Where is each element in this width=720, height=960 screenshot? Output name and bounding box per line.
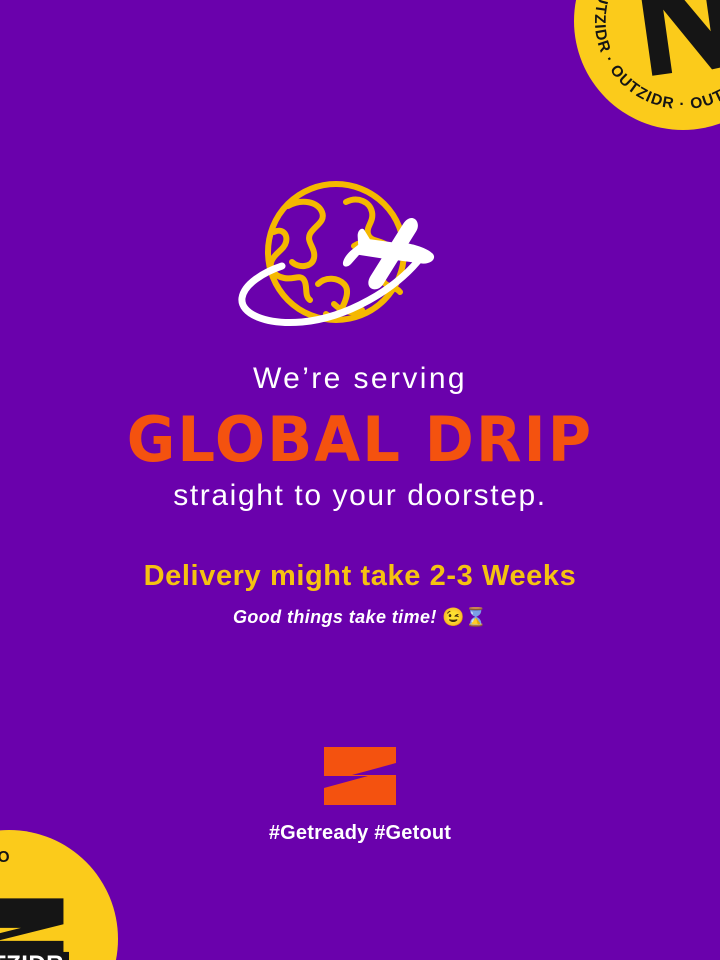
brand-z-logo — [318, 745, 402, 807]
reassurance-text: Good things take time! — [233, 607, 437, 627]
reassurance-line: Good things take time! 😉⌛ — [0, 607, 720, 628]
delivery-notice: Delivery might take 2-3 Weeks — [0, 560, 720, 593]
badge-wordmark-bottom-left: OUTZIDR — [0, 879, 69, 960]
page-title: GLOBAL DRIP — [0, 408, 720, 471]
subtitle-text: straight to your doorstep. — [0, 477, 720, 515]
footer-block: #Getready #Getout — [0, 745, 720, 845]
badge-letter-top-right — [623, 0, 720, 81]
badge-bottom-left: OUTZIDR · OUTZIDR · OUTZIDR · OUTZIDR · … — [0, 830, 118, 960]
badge-wordmark-text: OUTZIDR — [0, 951, 64, 960]
copy-block: We’re serving GLOBAL DRIP straight to yo… — [0, 360, 720, 628]
eyebrow-text: We’re serving — [0, 360, 720, 398]
winking-hourglass-emoji: 😉⌛ — [442, 607, 487, 627]
poster-canvas: OUTZIDR · OUTZIDR · OUTZIDR · OUTZIDR · … — [0, 0, 720, 960]
hero-artwork — [226, 172, 494, 340]
badge-top-right: OUTZIDR · OUTZIDR · OUTZIDR · OUTZIDR · — [574, 0, 720, 130]
hashtags-text: #Getready #Getout — [0, 822, 720, 845]
